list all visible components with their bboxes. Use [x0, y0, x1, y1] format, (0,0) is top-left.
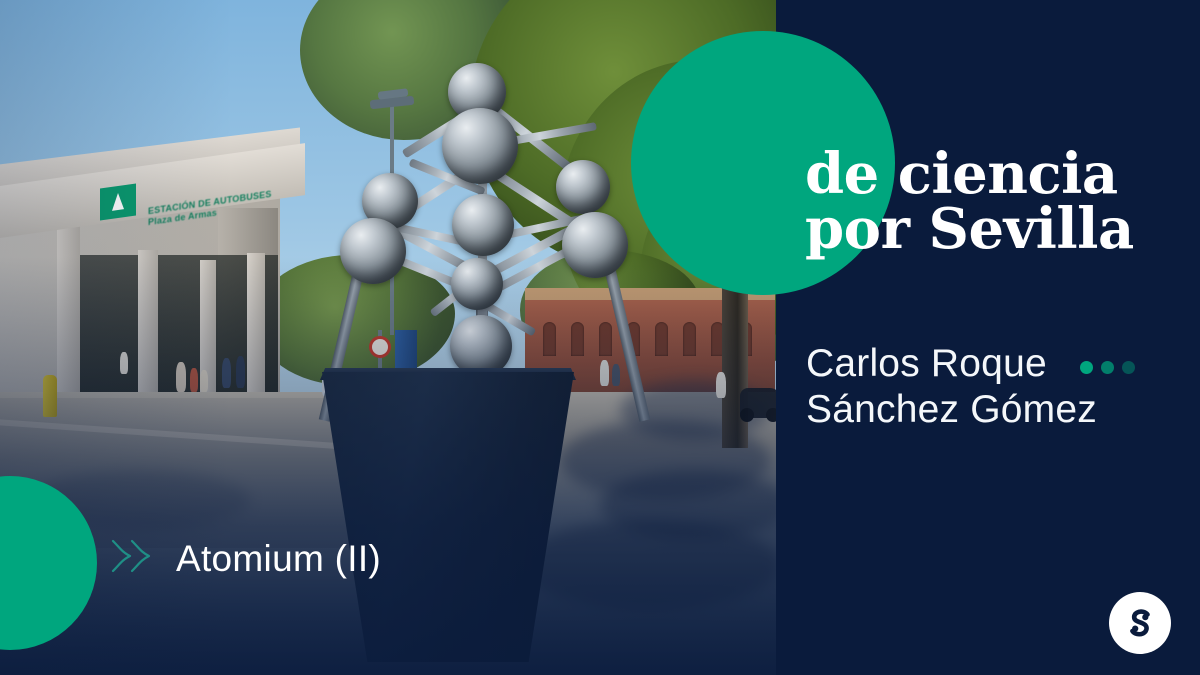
author-line-1: Carlos Roque: [806, 342, 1047, 385]
double-chevron-right-icon: [108, 536, 160, 581]
title-line-2: por Sevilla: [805, 202, 1200, 257]
subtitle-label: Atomium (II): [176, 538, 381, 580]
sculpture-sphere: [452, 194, 514, 256]
sculpture-sphere: [556, 160, 610, 214]
sculpture-sphere: [451, 258, 503, 310]
subtitle-group: Atomium (II): [108, 536, 381, 581]
sculpture-sphere: [442, 108, 518, 184]
brand-logo[interactable]: [1109, 592, 1171, 654]
sculpture-sphere: [450, 315, 512, 377]
page-title: de ciencia por Sevilla: [805, 147, 1200, 258]
presentation-slide: ESTACIÓN DE AUTOBUSES Plaza de Armas: [0, 0, 1200, 675]
sculpture-pedestal: [322, 372, 574, 662]
author-name: Carlos Roque Sánchez Gómez: [806, 342, 1200, 431]
author-line-1-wrap: Carlos Roque: [806, 342, 1200, 388]
author-line-2: Sánchez Gómez: [806, 388, 1200, 432]
sculpture-sphere: [340, 218, 406, 284]
sculpture-sphere: [562, 212, 628, 278]
three-dots-icon: [1072, 344, 1135, 388]
brand-s-icon: [1120, 603, 1160, 643]
